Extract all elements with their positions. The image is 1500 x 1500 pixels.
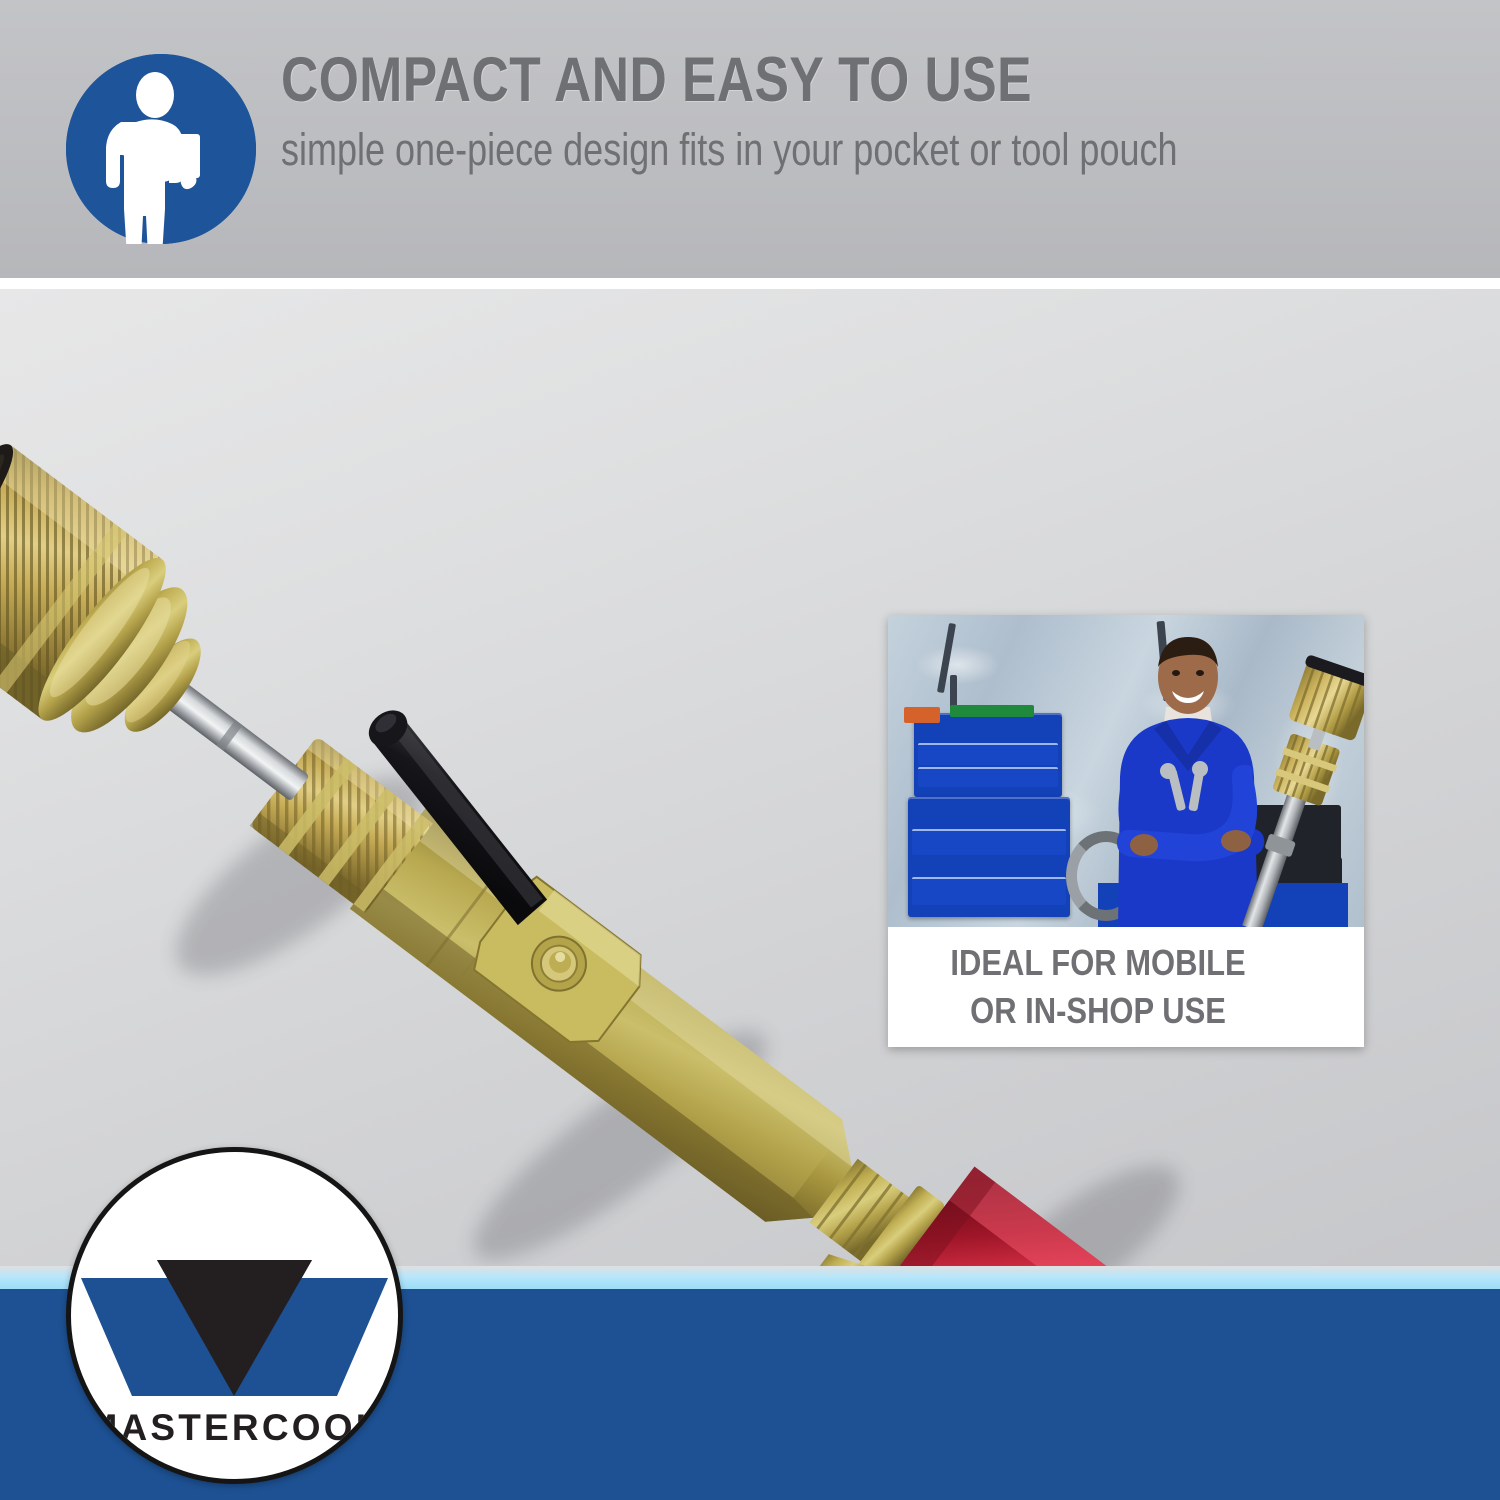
inset-caption: IDEAL FOR MOBILE OR IN-SHOP USE — [888, 927, 1364, 1047]
product-infographic: COMPACT AND EASY TO USE simple one-piece… — [0, 0, 1500, 1500]
product-stage: IDEAL FOR MOBILE OR IN-SHOP USE — [0, 289, 1500, 1276]
person-carrying-pouch-icon — [66, 54, 256, 244]
toolbox-orange-item — [904, 707, 940, 723]
toolbox-drawer-1 — [918, 743, 1058, 765]
logo-wordmark: MASTERCOOL — [86, 1407, 381, 1448]
page-subtitle: simple one-piece design fits in your poc… — [281, 125, 1201, 175]
toolbox-green-item — [950, 705, 1034, 717]
header-content: COMPACT AND EASY TO USE simple one-piece… — [66, 47, 1446, 247]
inset-card: IDEAL FOR MOBILE OR IN-SHOP USE — [888, 615, 1364, 1047]
toolbox-drawer-4 — [912, 877, 1066, 905]
toolbox-drawer-3 — [912, 829, 1066, 855]
mastercool-logo: MASTERCOOL — [66, 1147, 403, 1484]
tool-overlay-in-photo — [1224, 655, 1364, 927]
caption-line-2: OR IN-SHOP USE — [917, 987, 1278, 1035]
header-divider — [0, 278, 1500, 289]
caption-line-1: IDEAL FOR MOBILE — [917, 939, 1278, 987]
technician-photo — [888, 615, 1364, 927]
page-title: COMPACT AND EASY TO USE — [281, 47, 1224, 113]
header-text-block: COMPACT AND EASY TO USE simple one-piece… — [281, 47, 1431, 175]
toolbox-drawer-2 — [918, 767, 1058, 787]
header-banner: COMPACT AND EASY TO USE simple one-piece… — [0, 0, 1500, 278]
